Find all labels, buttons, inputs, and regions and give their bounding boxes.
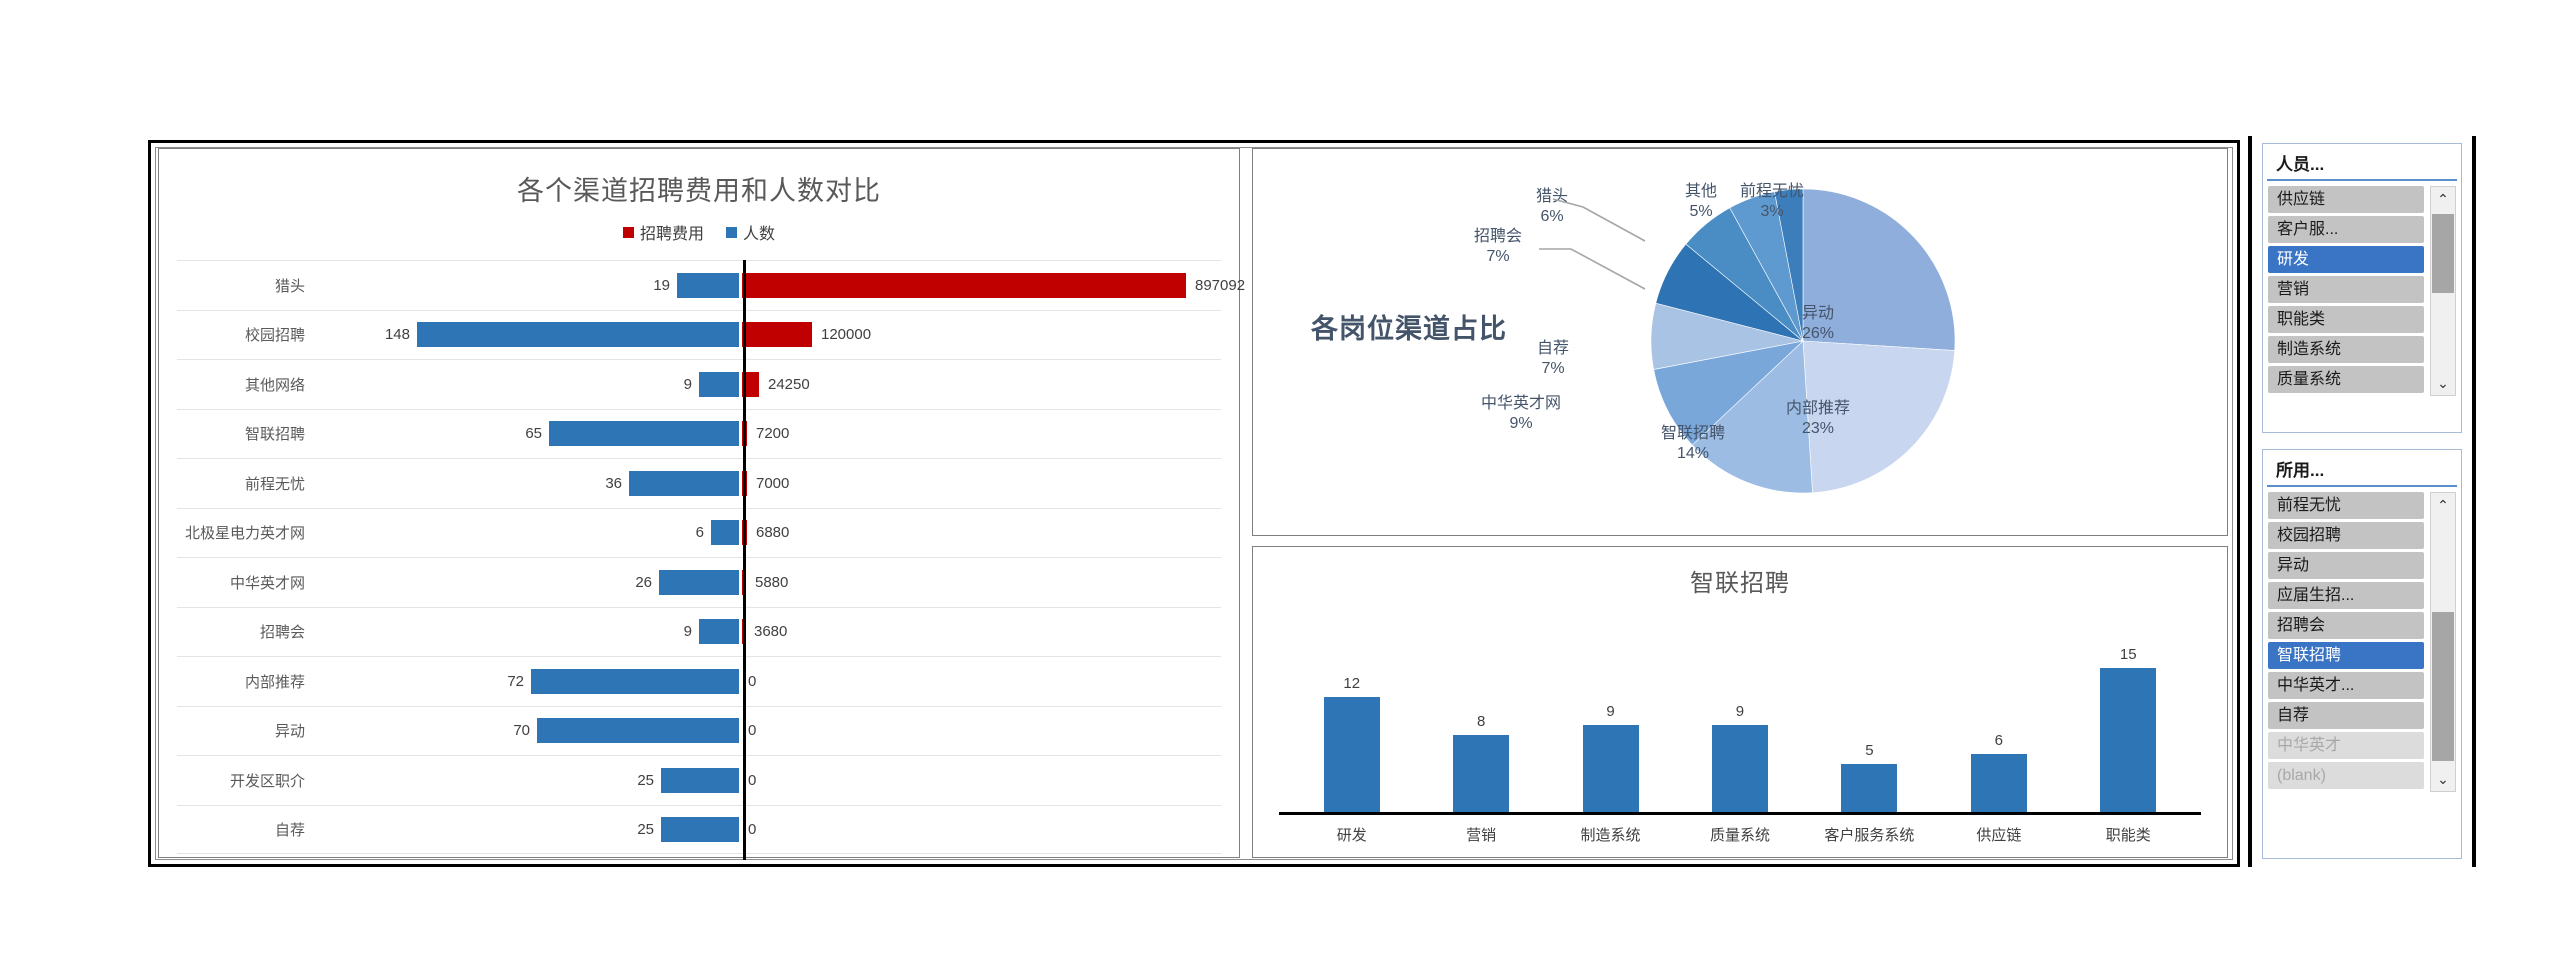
bar-row-headcount-track: 25 — [319, 768, 739, 793]
bar-row-headcount-track: 19 — [319, 273, 739, 298]
pie-slice-name: 自荐 — [1537, 340, 1569, 357]
pie-slice-percent: 7% — [1428, 247, 1568, 267]
bar-row-headcount-value: 72 — [507, 673, 524, 690]
bar-row-headcount-track: 36 — [319, 471, 739, 496]
bar-row-headcount-bar — [677, 273, 739, 298]
bar-row-cost-track: 5880 — [739, 570, 1221, 595]
slicer-people-body: 供应链客户服...研发营销职能类制造系统质量系统 ⌃ ⌄ — [2263, 181, 2461, 401]
column-bar — [1583, 725, 1639, 812]
pie-slice-percent: 9% — [1451, 414, 1591, 434]
slicer-channel-title: 所用... — [2267, 450, 2457, 487]
bar-row-category-label: 中华英才网 — [177, 572, 319, 593]
bar-row-headcount-track: 25 — [319, 817, 739, 842]
bar-row-category-label: 异动 — [177, 720, 319, 741]
column-bar-value: 9 — [1736, 703, 1744, 720]
slicer-channel-scrollbar[interactable]: ⌃ ⌄ — [2430, 492, 2456, 792]
pie-slice-label: 前程无忧3% — [1702, 182, 1842, 222]
dashboard-stage: 各个渠道招聘费用和人数对比 招聘费用 人数 猎头19897092校园招聘1481… — [0, 0, 2560, 978]
bar-row-headcount-bar — [629, 471, 739, 496]
column-bar-value: 9 — [1606, 703, 1614, 720]
column-chart-bar-group: 8 — [1416, 612, 1545, 812]
column-chart-title: 智联招聘 — [1253, 563, 2227, 598]
bar-row-category-label: 前程无忧 — [177, 473, 319, 494]
slicer-people[interactable]: 人员... 供应链客户服...研发营销职能类制造系统质量系统 ⌃ ⌄ — [2262, 143, 2462, 433]
column-bar-value: 15 — [2120, 646, 2137, 663]
column-bar — [1712, 725, 1768, 812]
bar-row-category-label: 内部推荐 — [177, 671, 319, 692]
bar-row-category-label: 北极星电力英才网 — [177, 522, 319, 543]
slicer-item-people[interactable]: 职能类 — [2268, 306, 2424, 333]
bar-row-headcount-value: 70 — [513, 722, 530, 739]
slicer-channel-list[interactable]: 前程无忧校园招聘异动应届生招...招聘会智联招聘中华英才...自荐中华英才(bl… — [2268, 492, 2424, 789]
slicer-item-people[interactable]: 研发 — [2268, 246, 2424, 273]
slicer-people-scroll-thumb[interactable] — [2432, 214, 2454, 293]
bar-row-headcount-track: 148 — [319, 322, 739, 347]
slicer-channel-scroll-thumb[interactable] — [2432, 612, 2454, 761]
bar-row-headcount-value: 36 — [605, 475, 622, 492]
channel-share-pie-panel[interactable]: 各岗位渠道占比 异动26%内部推荐23%智联招聘14%中华英才网9%自荐7%招聘… — [1252, 148, 2228, 536]
legend-item-cost: 招聘费用 — [623, 220, 704, 244]
bar-row-cost-value: 120000 — [821, 326, 871, 343]
pie-slice-name: 内部推荐 — [1786, 400, 1850, 417]
column-bar-value: 12 — [1343, 675, 1360, 692]
legend-item-headcount: 人数 — [726, 220, 775, 244]
slicer-people-list[interactable]: 供应链客户服...研发营销职能类制造系统质量系统 — [2268, 186, 2424, 393]
bar-row-cost-track: 0 — [739, 673, 1221, 690]
bar-row-headcount-value: 9 — [684, 623, 692, 640]
column-category-label: 制造系统 — [1546, 815, 1675, 845]
bar-row-cost-value: 7200 — [756, 425, 789, 442]
legend-swatch-cost — [623, 227, 634, 238]
pie-slice-percent: 6% — [1482, 207, 1622, 227]
column-chart-bar-group: 6 — [1934, 612, 2063, 812]
bar-row-headcount-value: 148 — [385, 326, 410, 343]
bar-row-headcount-bar — [531, 669, 739, 694]
slicer-item-channel[interactable]: 中华英才... — [2268, 672, 2424, 699]
recruit-cost-headcount-chart-panel[interactable]: 各个渠道招聘费用和人数对比 招聘费用 人数 猎头19897092校园招聘1481… — [158, 148, 1240, 858]
bar-row-headcount-track: 70 — [319, 718, 739, 743]
pie-slice-name: 智联招聘 — [1661, 425, 1725, 442]
bar-row-cost-track: 6880 — [739, 520, 1221, 545]
pie-slice-percent: 14% — [1623, 444, 1763, 464]
bar-row-category-label: 开发区职介 — [177, 770, 319, 791]
column-bar — [1453, 735, 1509, 812]
slicer-item-channel[interactable]: 应届生招... — [2268, 582, 2424, 609]
slicer-item-people[interactable]: 供应链 — [2268, 186, 2424, 213]
column-chart-bar-group: 12 — [1287, 612, 1416, 812]
bar-chart-row: 校园招聘148120000 — [177, 310, 1221, 360]
slicer-item-channel[interactable]: 招聘会 — [2268, 612, 2424, 639]
column-category-label: 质量系统 — [1675, 815, 1804, 845]
slicer-item-people[interactable]: 营销 — [2268, 276, 2424, 303]
column-bar-value: 6 — [1995, 732, 2003, 749]
bar-row-headcount-bar — [699, 372, 739, 397]
column-category-label: 客户服务系统 — [1805, 815, 1934, 845]
bar-row-headcount-bar — [417, 322, 739, 347]
bar-row-cost-value: 5880 — [755, 574, 788, 591]
bar-row-cost-track: 3680 — [739, 619, 1221, 644]
pie-slice-label: 招聘会7% — [1428, 227, 1568, 267]
bar-chart-row: 内部推荐720 — [177, 656, 1221, 706]
bar-row-cost-track: 24250 — [739, 372, 1221, 397]
bar-row-cost-bar — [742, 273, 1186, 298]
bar-row-headcount-value: 19 — [653, 277, 670, 294]
slicer-item-channel[interactable]: 异动 — [2268, 552, 2424, 579]
pie-slice-label: 中华英才网9% — [1451, 394, 1591, 434]
pie-slice-percent: 26% — [1748, 324, 1888, 344]
bar-row-cost-track: 7200 — [739, 421, 1221, 446]
bar-row-category-label: 校园招聘 — [177, 324, 319, 345]
pie-chart-title: 各岗位渠道占比 — [1311, 307, 1507, 346]
column-chart-plot-area: 128995615 — [1287, 612, 2193, 812]
bar-row-headcount-bar — [661, 768, 739, 793]
bar-row-headcount-value: 25 — [637, 772, 654, 789]
pie-slice-percent: 3% — [1702, 202, 1842, 222]
bar-row-cost-track: 0 — [739, 772, 1221, 789]
pie-slice-label: 内部推荐23% — [1748, 399, 1888, 439]
bar-row-cost-value: 24250 — [768, 376, 810, 393]
pie-slice-label: 自荐7% — [1483, 339, 1623, 379]
scroll-down-icon[interactable]: ⌄ — [2431, 371, 2455, 395]
pie-slice-name: 猎头 — [1536, 188, 1568, 205]
scroll-down-icon[interactable]: ⌄ — [2431, 767, 2455, 791]
bar-row-headcount-bar — [659, 570, 739, 595]
column-chart-category-labels: 研发营销制造系统质量系统客户服务系统供应链职能类 — [1287, 815, 2193, 845]
bar-row-cost-track: 120000 — [739, 322, 1221, 347]
legend-label-cost: 招聘费用 — [640, 220, 704, 244]
slicer-column-left-rule — [2248, 136, 2252, 867]
slicer-item-people[interactable]: 制造系统 — [2268, 336, 2424, 363]
column-chart-bar-group: 9 — [1546, 612, 1675, 812]
bar-row-cost-track: 897092 — [739, 273, 1245, 298]
bar-chart-row: 异动700 — [177, 706, 1221, 756]
zhilian-department-chart-panel[interactable]: 智联招聘 128995615 研发营销制造系统质量系统客户服务系统供应链职能类 — [1252, 546, 2228, 858]
column-chart-bar-group: 15 — [2064, 612, 2193, 812]
bar-row-cost-value: 3680 — [754, 623, 787, 640]
bar-row-cost-track: 0 — [739, 821, 1221, 838]
column-category-label: 研发 — [1287, 815, 1416, 845]
column-bar — [2100, 668, 2156, 812]
bar-row-headcount-track: 6 — [319, 520, 739, 545]
bar-chart-row: 开发区职介250 — [177, 755, 1221, 805]
slicer-item-channel: (blank) — [2268, 762, 2424, 789]
bar-row-category-label: 智联招聘 — [177, 423, 319, 444]
bar-chart-row: 其他网络924250 — [177, 359, 1221, 409]
bar-row-cost-bar — [742, 322, 812, 347]
pie-slice-name: 中华英才网 — [1481, 395, 1561, 412]
scroll-up-icon[interactable]: ⌃ — [2431, 493, 2455, 517]
pie-wrap: 各岗位渠道占比 异动26%内部推荐23%智联招聘14%中华英才网9%自荐7%招聘… — [1253, 149, 2227, 535]
slicer-people-title: 人员... — [2267, 144, 2457, 181]
bar-chart-row: 招聘会93680 — [177, 607, 1221, 657]
column-bar-value: 5 — [1865, 742, 1873, 759]
pie-slice-percent: 7% — [1483, 359, 1623, 379]
bar-row-category-label: 招聘会 — [177, 621, 319, 642]
bar-chart-plot-area: 猎头19897092校园招聘148120000其他网络924250智联招聘657… — [177, 260, 1221, 860]
bar-chart-legend: 招聘费用 人数 — [159, 220, 1239, 244]
bar-row-headcount-value: 26 — [635, 574, 652, 591]
scroll-up-icon[interactable]: ⌃ — [2431, 187, 2455, 211]
slicer-people-scrollbar[interactable]: ⌃ ⌄ — [2430, 186, 2456, 396]
column-category-label: 营销 — [1416, 815, 1545, 845]
bar-row-category-label: 自荐 — [177, 819, 319, 840]
bar-row-cost-value: 7000 — [756, 475, 789, 492]
pie-slice-percent: 23% — [1748, 419, 1888, 439]
bar-row-cost-value: 897092 — [1195, 277, 1245, 294]
legend-swatch-headcount — [726, 227, 737, 238]
slicer-item-channel: 中华英才 — [2268, 732, 2424, 759]
column-bar — [1324, 697, 1380, 812]
bar-row-headcount-value: 9 — [684, 376, 692, 393]
bar-row-cost-value: 0 — [748, 673, 756, 690]
bar-row-headcount-value: 65 — [525, 425, 542, 442]
bar-row-headcount-bar — [711, 520, 739, 545]
bar-chart-row: 北极星电力英才网66880 — [177, 508, 1221, 558]
column-bar — [1841, 764, 1897, 812]
pie-slice-name: 异动 — [1802, 305, 1834, 322]
column-chart-bar-group: 5 — [1805, 612, 1934, 812]
bar-row-headcount-track: 9 — [319, 619, 739, 644]
bar-row-headcount-track: 26 — [319, 570, 739, 595]
slicer-item-channel[interactable]: 校园招聘 — [2268, 522, 2424, 549]
bar-row-headcount-bar — [661, 817, 739, 842]
bar-row-cost-value: 0 — [748, 772, 756, 789]
bar-row-cost-value: 0 — [748, 722, 756, 739]
slicer-channel[interactable]: 所用... 前程无忧校园招聘异动应届生招...招聘会智联招聘中华英才...自荐中… — [2262, 449, 2462, 859]
bar-row-category-label: 猎头 — [177, 275, 319, 296]
bar-chart-row: 前程无忧367000 — [177, 458, 1221, 508]
column-category-label: 供应链 — [1934, 815, 2063, 845]
legend-label-headcount: 人数 — [743, 220, 775, 244]
bar-chart-row: 猎头19897092 — [177, 260, 1221, 310]
pie-slice-label: 异动26% — [1748, 304, 1888, 344]
bar-row-cost-value: 6880 — [756, 524, 789, 541]
pie-slice-label: 猎头6% — [1482, 187, 1622, 227]
slicer-column-right-rule — [2472, 136, 2476, 867]
bar-row-headcount-bar — [699, 619, 739, 644]
bar-row-headcount-bar — [537, 718, 739, 743]
pie-slice-label: 智联招聘14% — [1623, 424, 1763, 464]
slicer-item-people[interactable]: 质量系统 — [2268, 366, 2424, 393]
bar-chart-center-axis — [743, 260, 746, 860]
slicer-channel-body: 前程无忧校园招聘异动应届生招...招聘会智联招聘中华英才...自荐中华英才(bl… — [2263, 487, 2461, 797]
bar-row-category-label: 其他网络 — [177, 374, 319, 395]
bar-row-headcount-value: 6 — [696, 524, 704, 541]
bar-chart-row: 中华英才网265880 — [177, 557, 1221, 607]
column-bar-value: 8 — [1477, 713, 1485, 730]
bar-row-headcount-track: 9 — [319, 372, 739, 397]
column-category-label: 职能类 — [2064, 815, 2193, 845]
bar-chart-row: 智联招聘657200 — [177, 409, 1221, 459]
slicer-item-channel[interactable]: 前程无忧 — [2268, 492, 2424, 519]
bar-row-cost-value: 0 — [748, 821, 756, 838]
slicer-item-channel[interactable]: 自荐 — [2268, 702, 2424, 729]
bar-row-headcount-track: 65 — [319, 421, 739, 446]
pie-slice-name: 前程无忧 — [1740, 183, 1804, 200]
bar-row-cost-track: 7000 — [739, 471, 1221, 496]
slicer-item-channel[interactable]: 智联招聘 — [2268, 642, 2424, 669]
bar-chart-title: 各个渠道招聘费用和人数对比 — [159, 169, 1239, 208]
bar-chart-row: 自荐250 — [177, 805, 1221, 855]
column-bar — [1971, 754, 2027, 812]
pie-slice-name: 招聘会 — [1474, 228, 1522, 245]
bar-row-headcount-value: 25 — [637, 821, 654, 838]
column-chart-bar-group: 9 — [1675, 612, 1804, 812]
bar-row-headcount-bar — [549, 421, 739, 446]
bar-row-cost-track: 0 — [739, 722, 1221, 739]
slicer-item-people[interactable]: 客户服... — [2268, 216, 2424, 243]
bar-row-headcount-track: 72 — [319, 669, 739, 694]
